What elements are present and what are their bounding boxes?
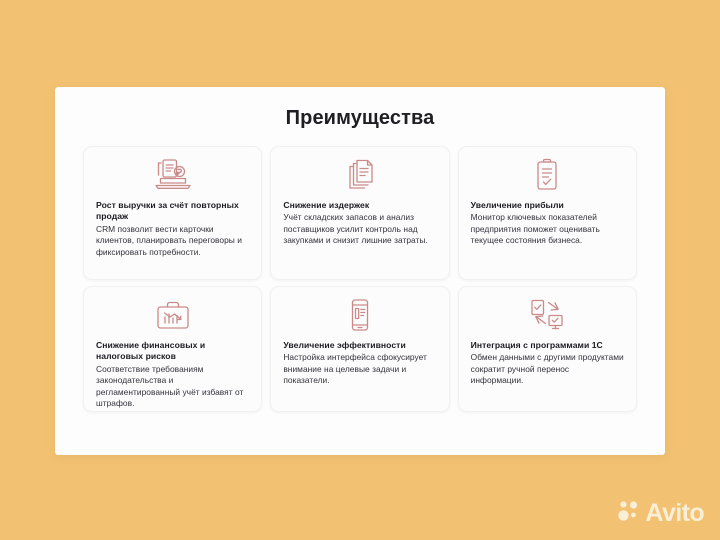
smartphone-interface-icon — [337, 296, 383, 334]
clipboard-checklist-icon — [524, 156, 570, 194]
advantage-card-title: Рост выручки за счёт повторных продаж — [96, 200, 249, 223]
stacked-documents-icon — [337, 156, 383, 194]
advantage-card-description: CRM позволит вести карточки клиентов, пл… — [96, 224, 249, 258]
advantage-card[interactable]: Рост выручки за счёт повторных продаж CR… — [83, 146, 262, 280]
laptop-document-ruble-icon — [150, 156, 196, 194]
advantage-card-title: Увеличение эффективности — [283, 340, 405, 351]
advantage-card-title: Увеличение прибыли — [471, 200, 564, 211]
page-background: Преимущества — [0, 0, 720, 540]
advantages-panel: Преимущества — [55, 87, 665, 455]
advantage-card[interactable]: Интеграция с программами 1С Обмен данным… — [458, 286, 637, 412]
advantages-card-grid: Рост выручки за счёт повторных продаж CR… — [83, 146, 637, 412]
advantage-card-description: Соответствие требованиям законодательств… — [96, 364, 249, 410]
advantage-card-description: Обмен данными с другими продуктами сокра… — [471, 352, 624, 386]
advantage-card[interactable]: Увеличение прибыли Монитор ключевых пока… — [458, 146, 637, 280]
advantage-card[interactable]: Увеличение эффективности Настройка интер… — [270, 286, 449, 412]
data-sync-exchange-icon — [524, 296, 570, 334]
advantage-card[interactable]: Снижение финансовых и налоговых рисков С… — [83, 286, 262, 412]
advantage-card-title: Снижение издержек — [283, 200, 369, 211]
briefcase-declining-chart-icon — [150, 296, 196, 334]
page-title: Преимущества — [55, 107, 665, 129]
avito-wordmark: Avito — [645, 501, 704, 526]
advantage-card-description: Монитор ключевых показателей предприятия… — [471, 212, 624, 246]
advantage-card-description: Учёт складских запасов и анализ поставщи… — [283, 212, 436, 246]
advantage-card-title: Снижение финансовых и налоговых рисков — [96, 340, 249, 363]
advantage-card[interactable]: Снижение издержек Учёт складских запасов… — [270, 146, 449, 280]
advantage-card-description: Настройка интерфейса сфокусирует внимани… — [283, 352, 436, 386]
avito-watermark: Avito — [617, 499, 704, 528]
advantage-card-title: Интеграция с программами 1С — [471, 340, 603, 351]
avito-logo-icon — [617, 499, 641, 528]
